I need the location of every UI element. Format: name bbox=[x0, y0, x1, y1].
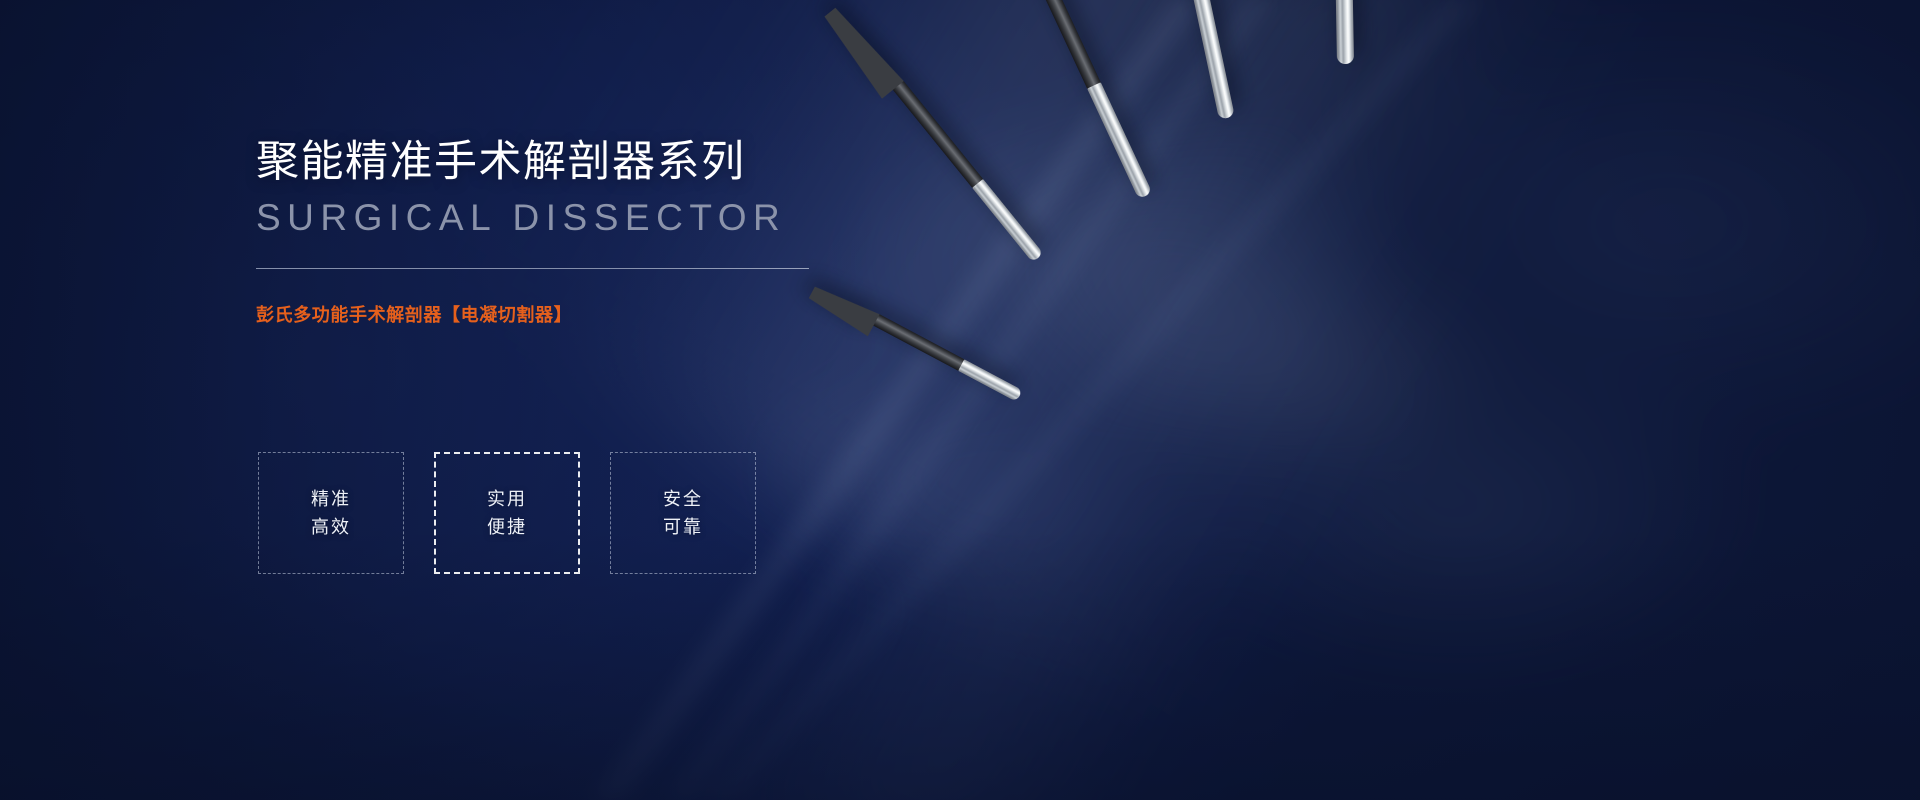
feature-box-precision[interactable]: 精准 高效 bbox=[258, 452, 404, 574]
feature-label-line2: 可靠 bbox=[663, 518, 703, 536]
product-subtitle: 彭氏多功能手术解剖器【电凝切割器】 bbox=[256, 301, 976, 327]
page-title-english: SURGICAL DISSECTOR bbox=[256, 198, 976, 238]
feature-label-line1: 实用 bbox=[487, 490, 527, 508]
hero-copy-block: 聚能精准手术解剖器系列 SURGICAL DISSECTOR 彭氏多功能手术解剖… bbox=[256, 138, 976, 327]
title-divider bbox=[256, 268, 809, 269]
page-title: 聚能精准手术解剖器系列 bbox=[256, 138, 976, 186]
feature-label-line1: 精准 bbox=[311, 490, 351, 508]
feature-label-line2: 便捷 bbox=[487, 518, 527, 536]
product-hero-banner: 聚能精准手术解剖器系列 SURGICAL DISSECTOR 彭氏多功能手术解剖… bbox=[0, 0, 1920, 800]
feature-box-safety[interactable]: 安全 可靠 bbox=[610, 452, 756, 574]
feature-label-line1: 安全 bbox=[663, 490, 703, 508]
feature-box-group: 精准 高效 实用 便捷 安全 可靠 bbox=[258, 452, 756, 574]
feature-box-practical[interactable]: 实用 便捷 bbox=[434, 452, 580, 574]
feature-label-line2: 高效 bbox=[311, 518, 351, 536]
background-vignette bbox=[0, 0, 1920, 800]
